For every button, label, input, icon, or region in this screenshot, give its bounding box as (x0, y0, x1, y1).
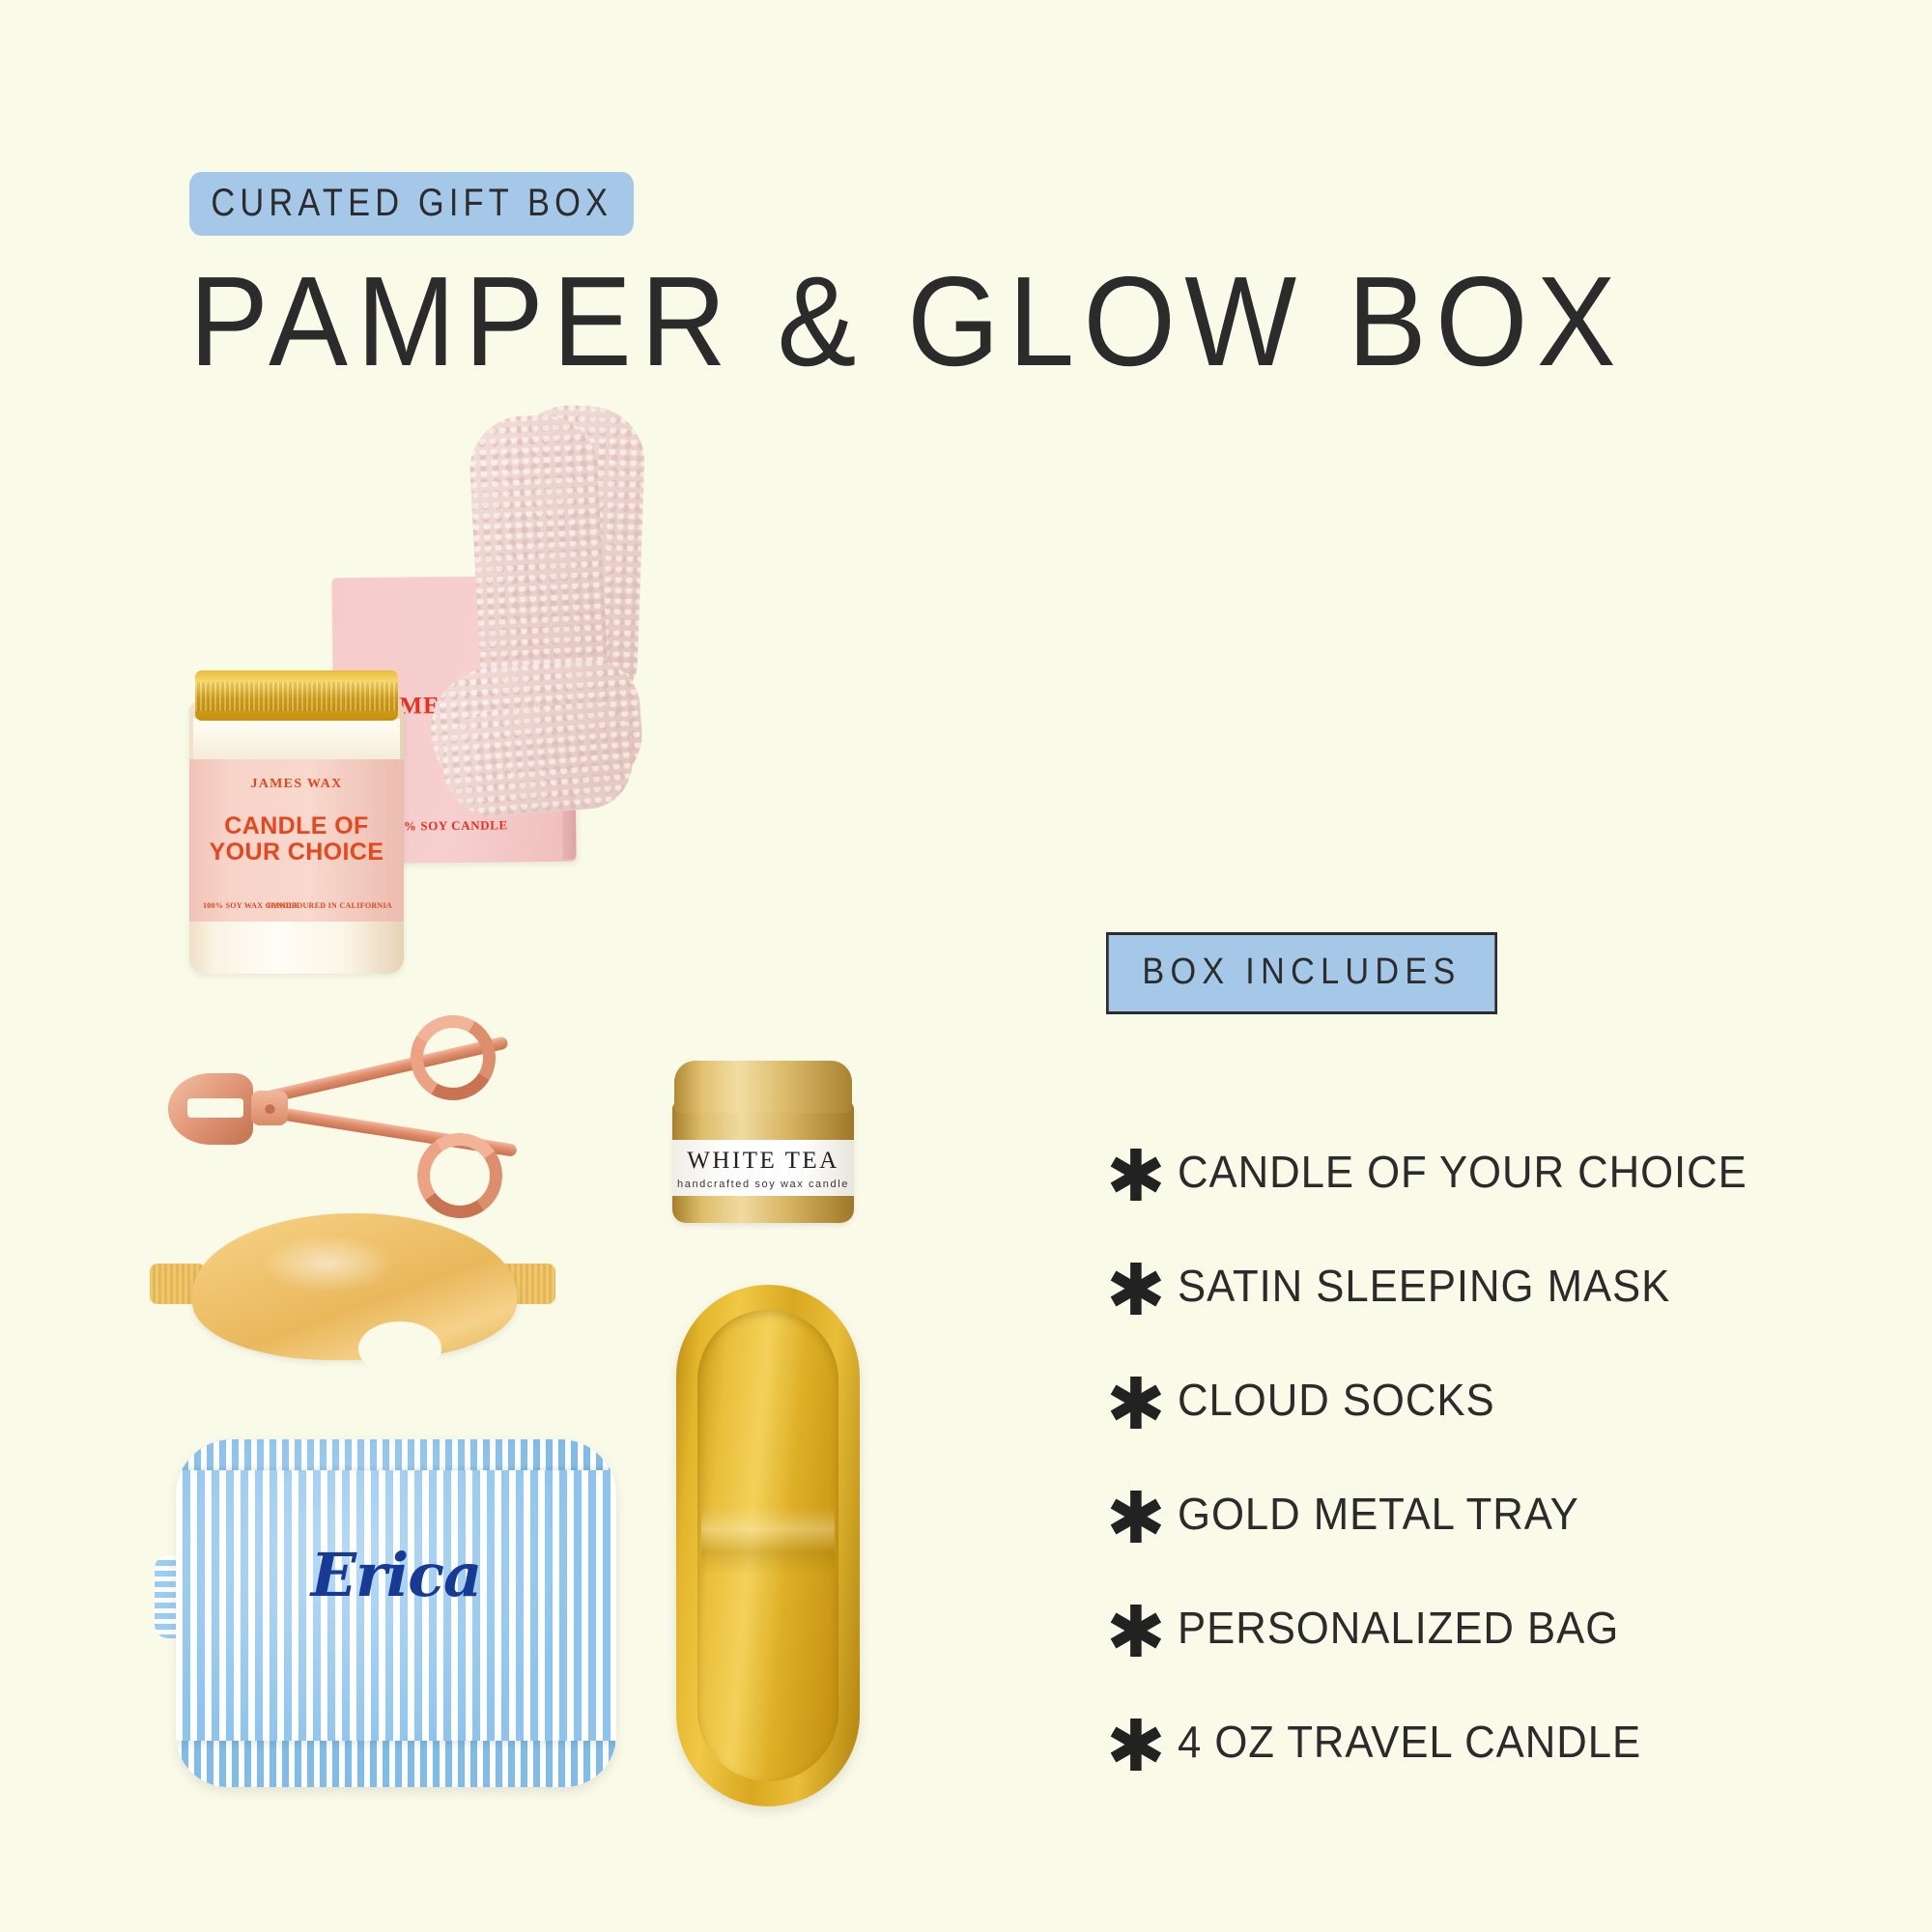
jar-label: JAMES WAX CANDLE OF YOUR CHOICE 100% SOY… (189, 759, 404, 922)
tin-label: WHITE TEA handcrafted soy wax candle (672, 1140, 854, 1196)
mask-body (192, 1213, 517, 1360)
bag-bottom-seam (176, 1741, 616, 1787)
mask-sheen (260, 1235, 395, 1293)
jar-brand-text: JAMES WAX (189, 777, 404, 792)
mask-nose-notch (358, 1321, 441, 1376)
list-item: ✱ GOLD METAL TRAY (1106, 1457, 1840, 1571)
list-item-label: PERSONALIZED BAG (1178, 1602, 1619, 1654)
list-item: ✱ CANDLE OF YOUR CHOICE (1106, 1115, 1840, 1229)
list-item: ✱ PERSONALIZED BAG (1106, 1571, 1840, 1685)
list-item-label: SATIN SLEEPING MASK (1178, 1260, 1670, 1312)
gold-metal-tray-image (676, 1285, 860, 1806)
list-item: ✱ SATIN SLEEPING MASK (1106, 1229, 1840, 1343)
list-item-label: GOLD METAL TRAY (1178, 1488, 1579, 1540)
jar-gold-lid (195, 670, 398, 721)
bag-shading (176, 1439, 616, 1787)
bag-monogram-text: Erica (176, 1540, 616, 1610)
trimmer-handle-ring-upper (402, 1007, 505, 1110)
asterisk-icon: ✱ (1106, 1149, 1178, 1206)
tin-scent-text: WHITE TEA (672, 1148, 854, 1175)
trimmer-cutting-head (168, 1073, 253, 1145)
asterisk-icon: ✱ (1106, 1719, 1178, 1776)
asterisk-icon: ✱ (1106, 1491, 1178, 1548)
jar-fineprint-right: HANDPOURED IN CALIFORNIA (268, 901, 392, 910)
personalized-bag-image: Erica (155, 1439, 638, 1806)
jar-headline-line1: CANDLE OF (224, 812, 368, 839)
box-includes-badge: BOX INCLUDES (1106, 932, 1497, 1014)
tin-lid (674, 1061, 852, 1113)
jar-headline-text: CANDLE OF YOUR CHOICE (189, 813, 404, 865)
cloud-socks-image (425, 406, 676, 850)
sock-foot-front (439, 699, 637, 822)
box-includes-list: ✱ CANDLE OF YOUR CHOICE ✱ SATIN SLEEPING… (1106, 1115, 1840, 1799)
jar-wax (193, 719, 400, 763)
trimmer-pivot-screw (251, 1091, 288, 1125)
product-collage: JAMES WAX 100% SOY CANDLE JAMES WAX CAND… (0, 0, 1063, 1932)
asterisk-icon: ✱ (1106, 1263, 1178, 1320)
bag-body: Erica (176, 1439, 616, 1787)
candle-jar-image: JAMES WAX CANDLE OF YOUR CHOICE 100% SOY… (189, 667, 404, 974)
asterisk-icon: ✱ (1106, 1377, 1178, 1434)
list-item: ✱ 4 OZ TRAVEL CANDLE (1106, 1685, 1840, 1799)
jar-headline-line2: YOUR CHOICE (210, 838, 384, 866)
sleeping-mask-image (150, 1209, 555, 1364)
box-includes-panel: BOX INCLUDES ✱ CANDLE OF YOUR CHOICE ✱ S… (1106, 932, 1840, 1799)
travel-candle-tin-image: WHITE TEA handcrafted soy wax candle (667, 1061, 860, 1223)
list-item: ✱ CLOUD SOCKS (1106, 1343, 1840, 1457)
wick-trimmer-image (155, 1009, 560, 1203)
asterisk-icon: ✱ (1106, 1605, 1178, 1662)
tray-sheen (701, 1507, 835, 1575)
list-item-label: 4 OZ TRAVEL CANDLE (1178, 1716, 1641, 1768)
list-item-label: CLOUD SOCKS (1178, 1374, 1495, 1426)
list-item-label: CANDLE OF YOUR CHOICE (1178, 1146, 1747, 1198)
tin-subtitle-text: handcrafted soy wax candle (672, 1179, 854, 1190)
